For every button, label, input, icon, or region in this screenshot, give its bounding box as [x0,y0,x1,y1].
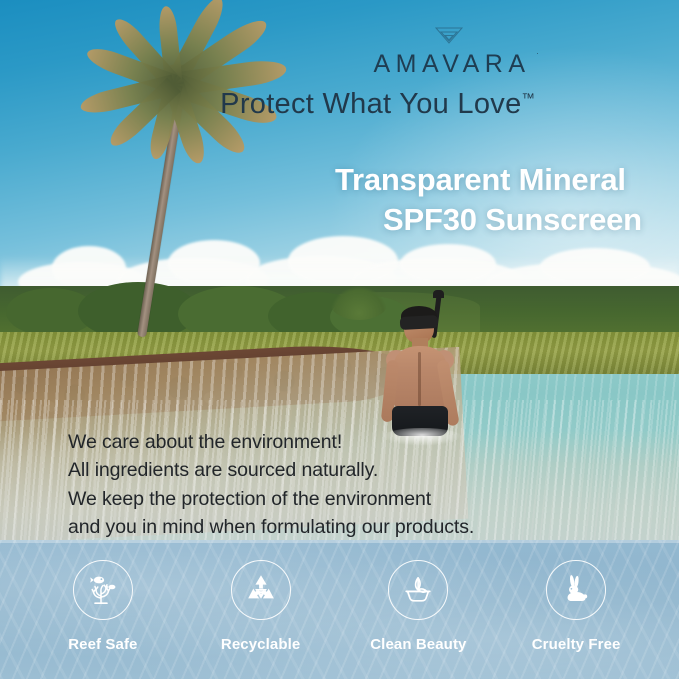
body-copy-line-4: and you in mind when formulating our pro… [68,513,588,541]
badge-list: Reef Safe [0,540,679,679]
certification-badge-band: Reef Safe [0,540,679,679]
badge-circle [546,560,606,620]
coral-reef-fish-icon [85,572,121,608]
badge-reef-safe: Reef Safe [24,560,182,663]
swimmer-back [394,346,446,412]
body-copy-line-2: All ingredients are sourced naturally. [68,456,588,484]
advertisement-banner: AMAVARA ˙ Protect What You Love™ Transpa… [0,0,679,679]
badge-recyclable: Recyclable [182,560,340,663]
body-copy-line-3: We keep the protection of the environmen… [68,485,588,513]
badge-label: Cruelty Free [532,636,621,653]
product-headline: Transparent Mineral SPF30 Sunscreen [335,160,665,239]
recycling-arrows-icon [243,572,279,608]
headline-line-2: SPF30 Sunscreen [335,200,665,240]
palm-tree [58,8,308,338]
brand-tagline: Protect What You Love™ [38,88,679,121]
badge-circle [388,560,448,620]
badge-label: Reef Safe [68,636,137,653]
swimmer-figure [372,296,468,442]
snorkel-top [433,290,444,298]
badge-label: Recyclable [221,636,300,653]
badge-circle [73,560,133,620]
headline-line-1: Transparent Mineral [335,162,626,197]
tagline-text: Protect What You Love [220,88,521,120]
tagline-trademark: ™ [522,90,535,105]
rabbit-icon [558,572,594,608]
snorkel-mask-strap [400,315,439,330]
badge-circle [231,560,291,620]
badge-label: Clean Beauty [370,636,466,653]
badge-clean-beauty: Clean Beauty [340,560,498,663]
environment-statement: We care about the environment! All ingre… [68,428,588,542]
mortar-bowl-leaves-icon [400,572,436,608]
body-copy-line-1: We care about the environment! [68,428,588,456]
badge-cruelty-free: Cruelty Free [497,560,655,663]
